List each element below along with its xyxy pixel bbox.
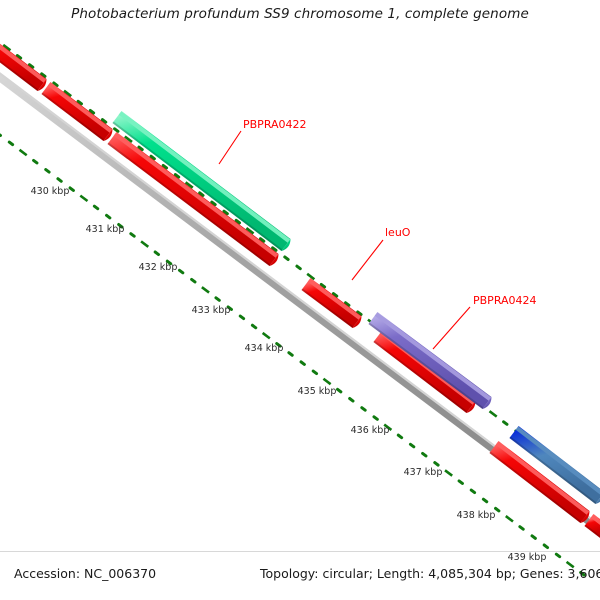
major-tick <box>20 150 27 155</box>
scale-label: 439 kbp <box>508 552 547 563</box>
gene-label-PBPRA0422[interactable]: PBPRA0422 <box>243 118 307 131</box>
scale-label: 434 kbp <box>245 343 284 354</box>
minor-tick <box>350 398 353 401</box>
scale-label: 432 kbp <box>139 262 178 273</box>
gene-label-PBPRA0424[interactable]: PBPRA0424 <box>473 294 537 307</box>
minor-tick <box>410 444 413 447</box>
major-tick <box>490 411 497 416</box>
minor-tick <box>423 453 426 456</box>
major-tick <box>445 470 452 475</box>
minor-tick <box>532 536 535 539</box>
minor-tick <box>435 463 438 466</box>
minor-tick <box>301 362 304 365</box>
gene-bar[interactable] <box>302 280 361 328</box>
major-tick <box>141 241 148 246</box>
minor-tick <box>496 508 499 511</box>
minor-tick <box>285 257 288 260</box>
major-tick <box>263 333 270 338</box>
minor-tick <box>544 545 547 548</box>
genome-map-view: Photobacterium profundum SS9 chromosome … <box>0 0 600 600</box>
minor-tick <box>459 481 462 484</box>
minor-tick <box>362 408 365 411</box>
minor-tick <box>483 499 486 502</box>
minor-tick <box>504 422 507 425</box>
minor-tick <box>297 266 300 269</box>
minor-tick <box>179 270 182 273</box>
gene-bar[interactable] <box>108 134 278 266</box>
minor-tick <box>520 527 523 530</box>
gene-label-leader <box>352 240 383 280</box>
footer-divider <box>0 551 600 552</box>
minor-tick <box>155 252 158 255</box>
gene-label-leader <box>219 131 241 164</box>
minor-tick <box>107 215 110 218</box>
minor-tick <box>338 389 341 392</box>
scale-label: 433 kbp <box>192 305 231 316</box>
scale-label: 431 kbp <box>86 224 125 235</box>
scale-label: 430 kbp <box>31 186 70 197</box>
minor-tick <box>34 160 37 163</box>
major-tick <box>506 516 513 521</box>
major-tick <box>80 196 87 201</box>
scale-label: 435 kbp <box>298 386 337 397</box>
minor-tick <box>115 129 118 132</box>
scale-label: 437 kbp <box>404 467 443 478</box>
genome-stats-text: Topology: circular; Length: 4,085,304 bp… <box>260 566 600 581</box>
accession-text: Accession: NC_006370 <box>14 566 156 581</box>
major-tick <box>202 287 209 292</box>
minor-tick <box>556 554 559 557</box>
minor-tick <box>9 142 12 145</box>
minor-tick <box>58 179 61 182</box>
minor-tick <box>398 435 401 438</box>
scale-label: 436 kbp <box>351 425 390 436</box>
minor-tick <box>374 417 377 420</box>
minor-tick <box>216 298 219 301</box>
minor-tick <box>252 325 255 328</box>
minor-tick <box>313 371 316 374</box>
minor-tick <box>46 170 49 173</box>
minor-tick <box>131 234 134 237</box>
minor-tick <box>471 490 474 493</box>
scale-label: 438 kbp <box>457 510 496 521</box>
gene-label-leuO[interactable]: leuO <box>385 226 411 239</box>
major-tick <box>323 379 330 384</box>
minor-tick <box>240 316 243 319</box>
gene-bar[interactable] <box>369 314 491 409</box>
gene-features <box>0 40 600 539</box>
genome-map-canvas: PBPRA0422leuOPBPRA0424 430 kbp431 kbp432… <box>0 0 600 600</box>
minor-tick <box>289 353 292 356</box>
minor-tick <box>70 188 73 191</box>
gene-label-leader <box>433 307 470 349</box>
minor-tick <box>192 279 195 282</box>
minor-tick <box>94 206 97 209</box>
